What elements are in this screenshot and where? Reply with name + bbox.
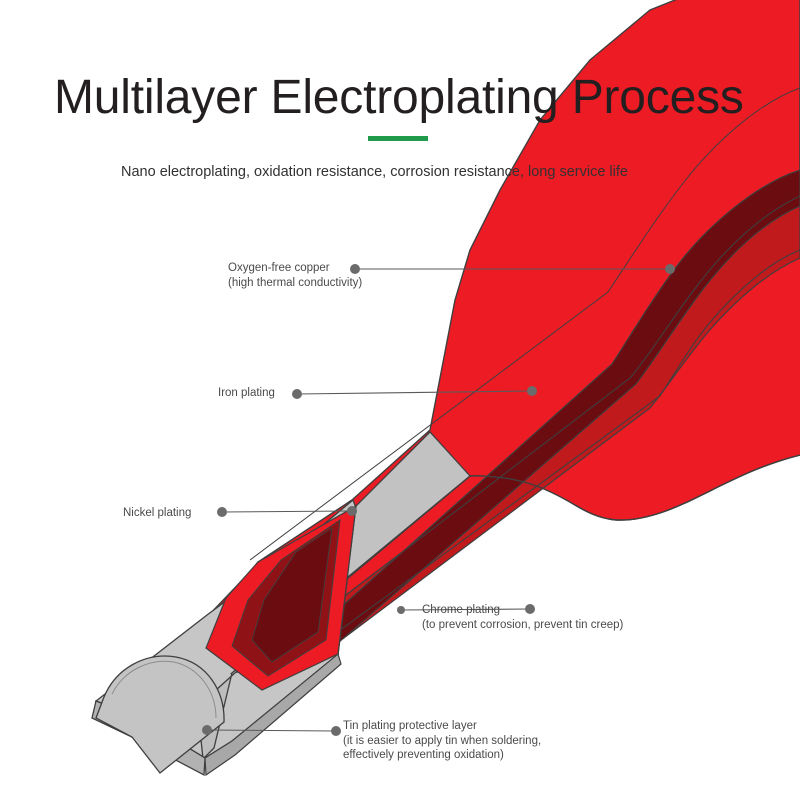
page-title: Multilayer Electroplating Process bbox=[54, 69, 744, 127]
leader-dot-nickel-target bbox=[347, 506, 357, 516]
leader-dot-iron-target bbox=[527, 386, 537, 396]
callout-line: Iron plating bbox=[218, 386, 275, 401]
callout-line: (it is easier to apply tin when solderin… bbox=[343, 734, 541, 749]
callout-line: Chrome plating bbox=[422, 603, 623, 618]
leader-dot-iron-label bbox=[292, 389, 302, 399]
callout-label-chrome-plating: Chrome plating (to prevent corrosion, pr… bbox=[422, 603, 623, 632]
callout-label-tin-plating: Tin plating protective layer (it is easi… bbox=[343, 719, 541, 763]
leader-dot-tin-target bbox=[202, 725, 212, 735]
diagram-canvas: Multilayer Electroplating Process Nano e… bbox=[0, 0, 800, 800]
callout-line: effectively preventing oxidation) bbox=[343, 748, 541, 763]
callout-line: Tin plating protective layer bbox=[343, 719, 541, 734]
callout-line: (to prevent corrosion, prevent tin creep… bbox=[422, 618, 623, 633]
callout-label-oxygen-free-copper: Oxygen-free copper (high thermal conduct… bbox=[228, 261, 362, 290]
leader-dot-nickel-label bbox=[217, 507, 227, 517]
callout-line: Nickel plating bbox=[123, 506, 191, 521]
callout-label-iron-plating: Iron plating bbox=[218, 386, 275, 401]
callout-line: (high thermal conductivity) bbox=[228, 276, 362, 291]
page-subtitle: Nano electroplating, oxidation resistanc… bbox=[121, 163, 628, 181]
leader-dot-chrome-target bbox=[397, 606, 405, 614]
title-underline-rule bbox=[368, 136, 428, 141]
callout-line: Oxygen-free copper bbox=[228, 261, 362, 276]
callout-label-nickel-plating: Nickel plating bbox=[123, 506, 191, 521]
leader-dot-copper-target bbox=[665, 264, 675, 274]
leader-dot-tin-label bbox=[331, 726, 341, 736]
leader-line-nickel bbox=[222, 511, 352, 512]
